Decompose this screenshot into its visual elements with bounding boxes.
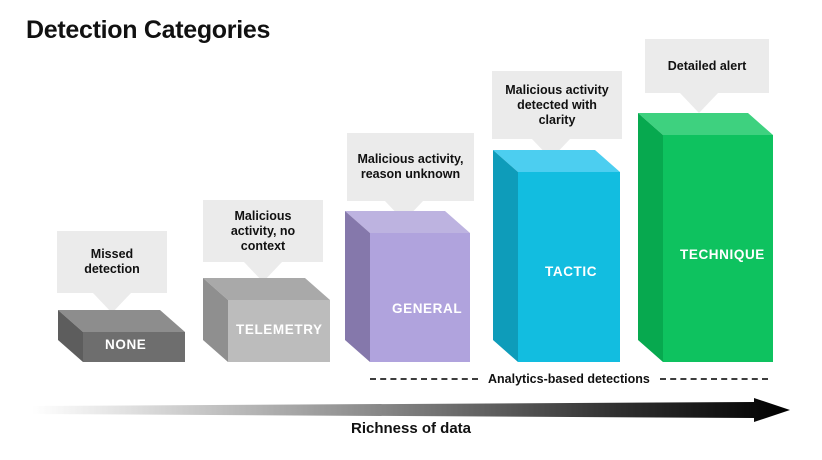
dashed-line-right [660,378,768,380]
block-tactic[interactable]: TACTIC [493,150,620,362]
slide-canvas: Detection Categories Missed detection Ma… [0,0,822,460]
block-telemetry-label: TELEMETRY [236,322,323,337]
richness-arrow [32,398,790,422]
callout-general-text: Malicious activity, reason unknown [355,152,466,182]
dashed-line-left [370,378,478,380]
callout-tactic: Malicious activity detected with clarity [492,71,622,139]
callout-none: Missed detection [57,231,167,293]
block-general[interactable]: GENERAL [345,211,470,362]
page-title: Detection Categories [26,16,270,45]
block-none[interactable]: NONE [58,310,185,362]
block-telemetry[interactable]: TELEMETRY [203,278,330,362]
block-technique-label: TECHNIQUE [680,247,765,262]
block-face-front [370,233,470,362]
block-technique-shape [638,113,773,362]
block-face-side [638,113,663,362]
block-technique[interactable]: TECHNIQUE [638,113,773,362]
block-none-label: NONE [105,337,146,352]
callout-tactic-text: Malicious activity detected with clarity [500,83,614,128]
callout-technique: Detailed alert [645,39,769,93]
callout-telemetry-text: Malicious activity, no context [211,209,315,254]
block-tactic-shape [493,150,620,362]
block-tactic-label: TACTIC [545,264,597,279]
analytics-label: Analytics-based detections [488,372,650,386]
block-general-label: GENERAL [392,301,462,316]
block-telemetry-shape [203,278,330,362]
block-face-side [345,211,370,362]
callout-none-text: Missed detection [65,247,159,277]
block-general-shape [345,211,470,362]
block-none-shape [58,310,185,362]
callout-telemetry: Malicious activity, no context [203,200,323,262]
callout-pointer-icon [680,93,718,113]
callout-technique-text: Detailed alert [668,59,747,74]
callout-general: Malicious activity, reason unknown [347,133,474,201]
axis-caption: Richness of data [0,420,822,437]
richness-arrow-icon [32,398,790,422]
analytics-divider: Analytics-based detections [370,370,775,388]
block-face-side [493,150,518,362]
